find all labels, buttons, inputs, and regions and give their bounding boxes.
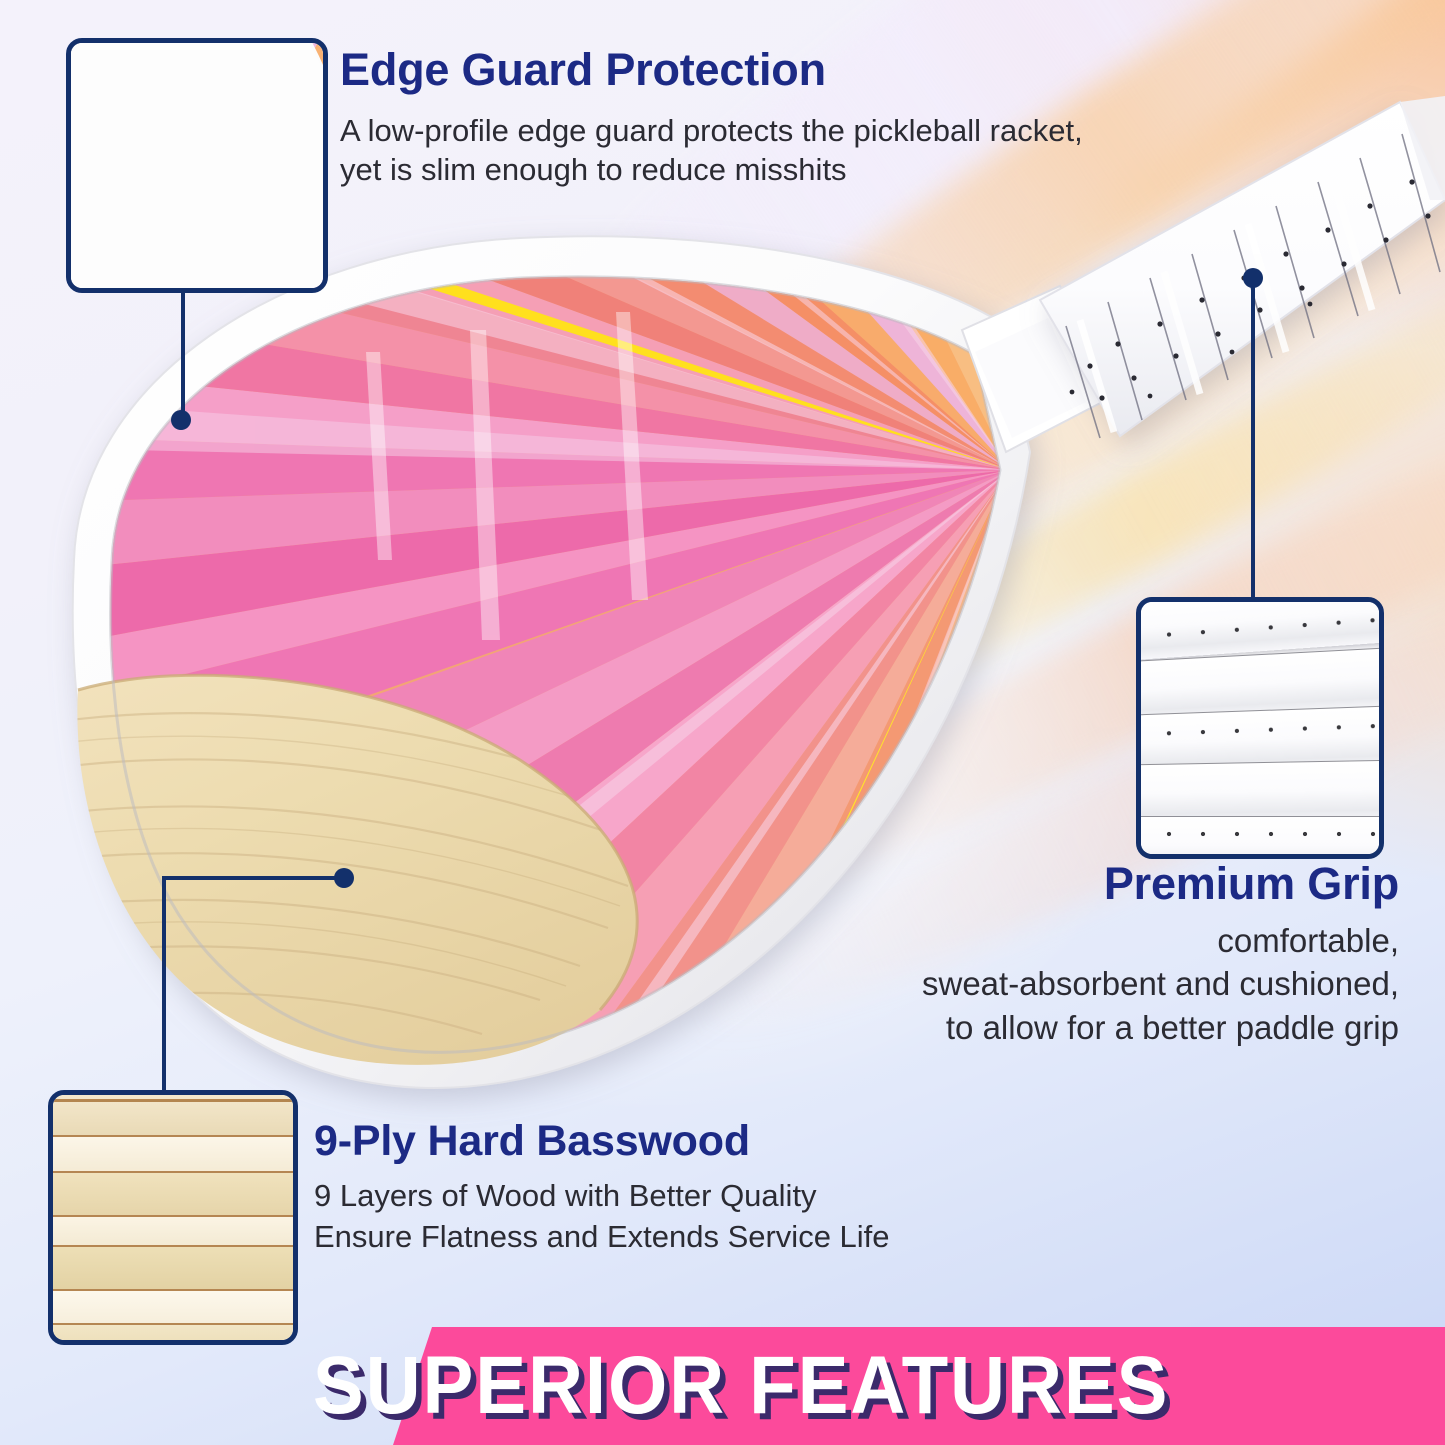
edge-guard-closeup-image bbox=[71, 43, 323, 288]
edge-guard-title: Edge Guard Protection bbox=[340, 46, 1270, 95]
grip-closeup-image bbox=[1141, 602, 1379, 854]
premium-grip-body-line-1: comfortable, bbox=[499, 919, 1399, 963]
leader-line-grip bbox=[1251, 278, 1255, 600]
leader-line-basswood-horizontal bbox=[162, 876, 342, 880]
basswood-text-block: 9-Ply Hard Basswood 9 Layers of Wood wit… bbox=[314, 1118, 1264, 1257]
grip-closeup-callout bbox=[1136, 597, 1384, 859]
banner-label: SUPERIOR FEATURES bbox=[51, 1327, 1395, 1445]
premium-grip-text-block: Premium Grip comfortable, sweat-absorben… bbox=[499, 860, 1399, 1050]
superior-features-banner: SUPERIOR FEATURES bbox=[0, 1327, 1445, 1445]
premium-grip-title: Premium Grip bbox=[499, 860, 1399, 909]
infographic-canvas: Edge Guard Protection A low-profile edge… bbox=[0, 0, 1445, 1445]
edge-guard-text-block: Edge Guard Protection A low-profile edge… bbox=[340, 46, 1270, 190]
basswood-body-line-2: Ensure Flatness and Extends Service Life bbox=[314, 1217, 1264, 1257]
basswood-title: 9-Ply Hard Basswood bbox=[314, 1118, 1264, 1164]
leader-dot-edge-guard bbox=[171, 410, 191, 430]
basswood-layers-image bbox=[53, 1095, 293, 1340]
premium-grip-body-line-3: to allow for a better paddle grip bbox=[499, 1006, 1399, 1050]
leader-line-basswood-vertical bbox=[162, 876, 166, 1092]
edge-guard-body-line-1: A low-profile edge guard protects the pi… bbox=[340, 111, 1270, 151]
edge-guard-closeup-callout bbox=[66, 38, 328, 293]
edge-guard-body-line-2: yet is slim enough to reduce misshits bbox=[340, 150, 1270, 190]
premium-grip-body-line-2: sweat-absorbent and cushioned, bbox=[499, 962, 1399, 1006]
premium-grip-body: comfortable, sweat-absorbent and cushion… bbox=[499, 919, 1399, 1051]
edge-guard-rim-white bbox=[66, 38, 328, 293]
basswood-body-line-1: 9 Layers of Wood with Better Quality bbox=[314, 1176, 1264, 1216]
basswood-layers-closeup-callout bbox=[48, 1090, 298, 1345]
leader-line-edge-guard bbox=[181, 283, 185, 423]
edge-guard-body: A low-profile edge guard protects the pi… bbox=[340, 111, 1270, 190]
basswood-body: 9 Layers of Wood with Better Quality Ens… bbox=[314, 1176, 1264, 1257]
